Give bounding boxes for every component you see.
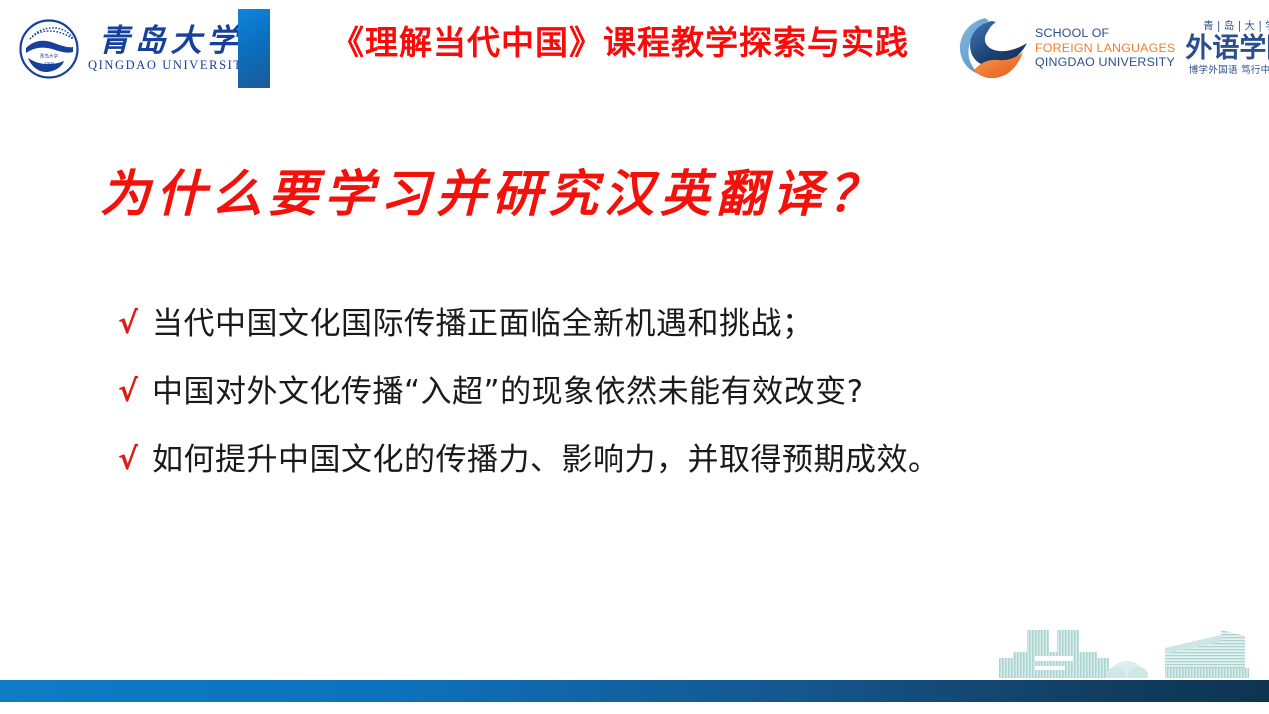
school-of-foreign-languages-logo: SCHOOL OF FOREIGN LANGUAGES QINGDAO UNIV… [955, 8, 1269, 88]
slide-header: 青岛大学 1909 青岛大学 QINGDAO UNIVERSITY 《理解当代中… [0, 0, 1269, 98]
bullet-text: 如何提升中国文化的传播力、影响力，并取得预期成效。 [152, 436, 940, 484]
qingdao-university-name-en: QINGDAO UNIVERSITY [88, 58, 253, 73]
presentation-slide: 青岛大学 1909 青岛大学 QINGDAO UNIVERSITY 《理解当代中… [0, 0, 1269, 714]
qingdao-university-name-cn: 青岛大学 [99, 25, 243, 58]
header-title: 《理解当代中国》课程教学探索与实践 [290, 20, 950, 66]
footer-accent-bar [0, 680, 1269, 702]
list-item: √ 如何提升中国文化的传播力、影响力，并取得预期成效。 [118, 436, 1178, 504]
checkmark-icon: √ [118, 368, 152, 416]
school-logo-en-line-1: SCHOOL OF [1035, 26, 1175, 41]
bullet-text: 中国对外文化传播“入超”的现象依然未能有效改变? [152, 368, 864, 416]
qingdao-university-emblem-icon: 青岛大学 1909 [18, 18, 80, 80]
qingdao-university-logo: 青岛大学 1909 青岛大学 QINGDAO UNIVERSITY [18, 14, 253, 84]
school-logo-en-line-2: FOREIGN LANGUAGES [1035, 41, 1175, 56]
school-logo-cn-name: 外语学院 [1185, 33, 1269, 64]
svg-text:1909: 1909 [44, 62, 55, 67]
school-logo-en-line-3: QINGDAO UNIVERSITY [1035, 55, 1175, 70]
slide-main-title: 为什么要学习并研究汉英翻译？ [100, 160, 1000, 228]
checkmark-icon: √ [118, 300, 152, 348]
bullet-text: 当代中国文化国际传播正面临全新机遇和挑战； [152, 300, 814, 348]
footer-whitespace [0, 702, 1269, 714]
list-item: √ 中国对外文化传播“入超”的现象依然未能有效改变? [118, 368, 1178, 436]
qingdao-university-logo-text: 青岛大学 QINGDAO UNIVERSITY [88, 25, 253, 74]
city-skyline-decoration-icon [969, 616, 1269, 678]
school-logo-english-text: SCHOOL OF FOREIGN LANGUAGES QINGDAO UNIV… [1035, 26, 1175, 70]
checkmark-icon: √ [118, 436, 152, 484]
header-accent-bar [238, 9, 270, 88]
school-logo-cn-motto: 博学外国语 笃行中国心 [1189, 64, 1269, 77]
bullet-list: √ 当代中国文化国际传播正面临全新机遇和挑战； √ 中国对外文化传播“入超”的现… [118, 300, 1178, 504]
school-swoosh-icon [955, 12, 1031, 84]
school-logo-chinese-text: 青 | 岛 | 大 | 学 外语学院 博学外国语 笃行中国心 [1185, 20, 1269, 77]
school-logo-cn-university: 青 | 岛 | 大 | 学 [1203, 20, 1269, 33]
svg-text:青岛大学: 青岛大学 [40, 53, 59, 60]
list-item: √ 当代中国文化国际传播正面临全新机遇和挑战； [118, 300, 1178, 368]
